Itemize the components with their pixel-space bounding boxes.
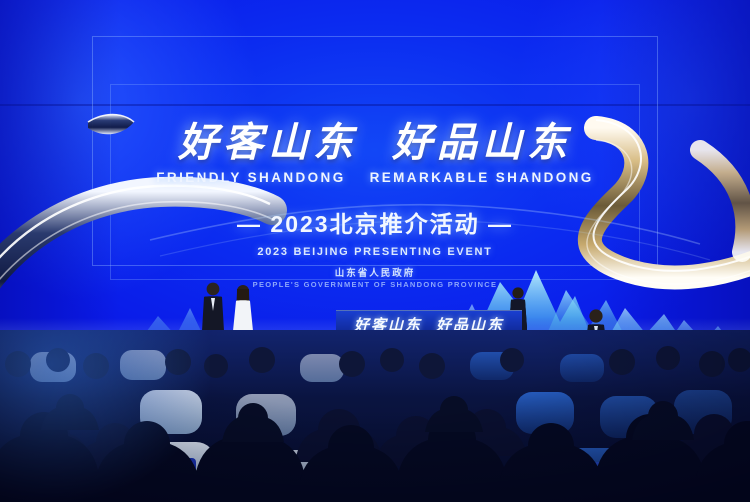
organizer-english: PEOPLE'S GOVERNMENT OF SHANDONG PROVINCE — [0, 280, 750, 289]
main-title-chinese: 好客山东好品山东 — [0, 120, 750, 166]
title-cn-right: 好品山东 — [392, 119, 572, 166]
screen-title-block: 好客山东好品山东 FRIENDLY SHANDONGREMARKABLE SHA… — [0, 120, 750, 258]
title-en-left: FRIENDLY SHANDONG — [156, 170, 345, 185]
main-title-english: FRIENDLY SHANDONGREMARKABLE SHANDONG — [0, 170, 750, 185]
audience-seating — [0, 330, 750, 502]
audience-crowd — [0, 330, 750, 502]
event-subtitle-chinese: — 2023北京推介活动 — — [0, 205, 750, 239]
organizer-chinese: 山东省人民政府 — [0, 265, 750, 279]
event-subtitle-english: 2023 BEIJING PRESENTING EVENT — [0, 246, 750, 258]
title-en-right: REMARKABLE SHANDONG — [370, 170, 594, 185]
event-stage-photo: 好客山东好品山东 FRIENDLY SHANDONGREMARKABLE SHA… — [0, 0, 750, 502]
audience-row-back — [5, 346, 750, 379]
title-cn-left: 好客山东 — [178, 119, 358, 166]
